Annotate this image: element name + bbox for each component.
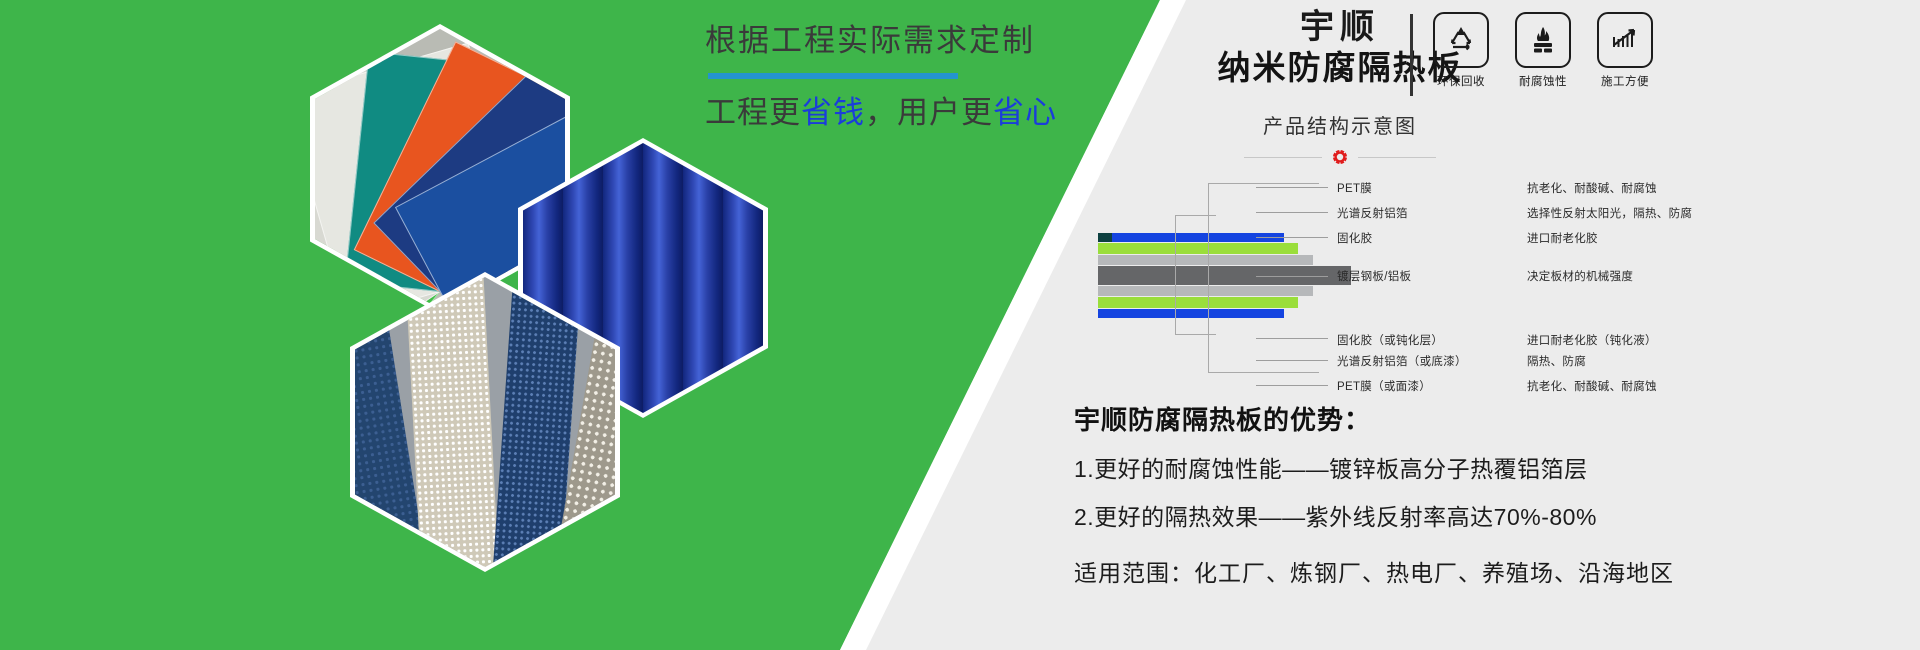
leader-line: [1256, 360, 1328, 361]
structure-row: PET膜 抗老化、耐酸碱、耐腐蚀: [1256, 175, 1896, 200]
layer-desc: 抗老化、耐酸碱、耐腐蚀: [1527, 180, 1657, 196]
structure-row: 光谱反射铝箔 选择性反射太阳光，隔热、防腐: [1256, 200, 1896, 225]
brand-divider: [1410, 14, 1413, 96]
growth-chart-icon: [1597, 12, 1653, 68]
application-scope: 适用范围：化工厂、炼钢厂、热电厂、养殖场、沿海地区: [1074, 554, 1920, 588]
layer-desc: 抗老化、耐酸碱、耐腐蚀: [1527, 378, 1657, 394]
gear-icon: [1331, 148, 1349, 166]
feature-icon-row: 环保回收 耐腐蚀性: [1428, 12, 1658, 89]
leader-line: [1256, 385, 1328, 386]
recycle-icon: [1433, 12, 1489, 68]
advantages-heading-text: 宇顺防腐隔热板的优势: [1074, 405, 1344, 435]
layer-label: 镀层钢板/铝板: [1337, 268, 1527, 284]
product-photo-cluster: [300, 10, 770, 630]
leader-line: [1256, 338, 1328, 339]
right-info-panel: 宇顺 纳米防腐隔热板 环保回收: [1080, 0, 1920, 650]
feature-recycle-label: 环保回收: [1428, 73, 1494, 89]
headline-rule: [708, 73, 958, 79]
layer-desc: 进口耐老化胶（钝化液）: [1527, 332, 1657, 348]
layer-label: 光谱反射铝箔: [1337, 205, 1527, 221]
structure-row: 固化胶 进口耐老化胶: [1256, 225, 1896, 250]
layer-desc: 决定板材的机械强度: [1527, 268, 1633, 284]
headline-emphasis-peace-of-mind: 省心: [993, 95, 1057, 130]
headline-secondary-part2: ，用户更: [865, 95, 993, 130]
advantages-heading: 宇顺防腐隔热板的优势：: [1074, 400, 1920, 437]
texture-beige-diamond: [404, 277, 501, 567]
layer-label: PET膜（或面漆）: [1337, 378, 1527, 394]
feature-corrosion: 耐腐蚀性: [1510, 12, 1576, 89]
advantages-block: 宇顺防腐隔热板的优势： 1.更好的耐腐蚀性能——镀锌板高分子热覆铝箔层 2.更好…: [1074, 400, 1920, 588]
feature-recycle: 环保回收: [1428, 12, 1494, 89]
layer-edge-marker: [1098, 233, 1112, 242]
layer-label: PET膜: [1337, 180, 1527, 196]
feature-corrosion-label: 耐腐蚀性: [1510, 73, 1576, 89]
texture-blue-dotted: [490, 277, 583, 567]
ornament-line-left: [1244, 157, 1322, 158]
headline-secondary: 工程更省钱，用户更省心: [705, 87, 1125, 132]
leader-bracket-inner: [1175, 215, 1216, 335]
section-title-block: 产品结构示意图: [1080, 110, 1600, 166]
structure-row: 光谱反射铝箔（或底漆） 隔热、防腐: [1256, 348, 1896, 373]
layer-desc: 隔热、防腐: [1527, 353, 1586, 369]
headline-emphasis-save-money: 省钱: [801, 95, 865, 130]
leader-line: [1256, 237, 1328, 238]
structure-label-list: PET膜 抗老化、耐酸碱、耐腐蚀 光谱反射铝箔 选择性反射太阳光，隔热、防腐 固…: [1256, 175, 1896, 398]
advantage-item-1: 1.更好的耐腐蚀性能——镀锌板高分子热覆铝箔层: [1074, 450, 1920, 484]
headline-primary: 根据工程实际需求定制: [705, 22, 1125, 61]
advantage-item-2: 2.更好的隔热效果——紫外线反射率高达70%-80%: [1074, 498, 1920, 532]
structure-row: PET膜（或面漆） 抗老化、耐酸碱、耐腐蚀: [1256, 373, 1896, 398]
leader-line: [1256, 187, 1328, 188]
layer-label: 光谱反射铝箔（或底漆）: [1337, 353, 1527, 369]
structure-row: 镀层钢板/铝板 决定板材的机械强度: [1256, 250, 1896, 302]
section-ornament: [1080, 148, 1600, 166]
fire-brick-icon: [1515, 12, 1571, 68]
structure-diagram: PET膜 抗老化、耐酸碱、耐腐蚀 光谱反射铝箔 选择性反射太阳光，隔热、防腐 固…: [1080, 175, 1920, 380]
section-title: 产品结构示意图: [1080, 110, 1600, 139]
advantages-heading-colon: ：: [1344, 405, 1371, 435]
layer-desc: 选择性反射太阳光，隔热、防腐: [1527, 205, 1692, 221]
feature-installation: 施工方便: [1592, 12, 1658, 89]
ornament-line-right: [1358, 157, 1436, 158]
leader-line: [1256, 276, 1328, 277]
product-banner: 根据工程实际需求定制 工程更省钱，用户更省心 宇顺 纳米防腐隔热板: [0, 0, 1920, 650]
layer-desc: 进口耐老化胶: [1527, 230, 1598, 246]
layer-label: 固化胶（或钝化层）: [1337, 332, 1527, 348]
leader-line: [1256, 212, 1328, 213]
feature-installation-label: 施工方便: [1592, 73, 1658, 89]
layer-label: 固化胶: [1337, 230, 1527, 246]
structure-row: 固化胶（或钝化层） 进口耐老化胶（钝化液）: [1256, 302, 1896, 348]
headline-secondary-part1: 工程更: [705, 95, 801, 130]
left-headline-block: 根据工程实际需求定制 工程更省钱，用户更省心: [705, 22, 1125, 132]
